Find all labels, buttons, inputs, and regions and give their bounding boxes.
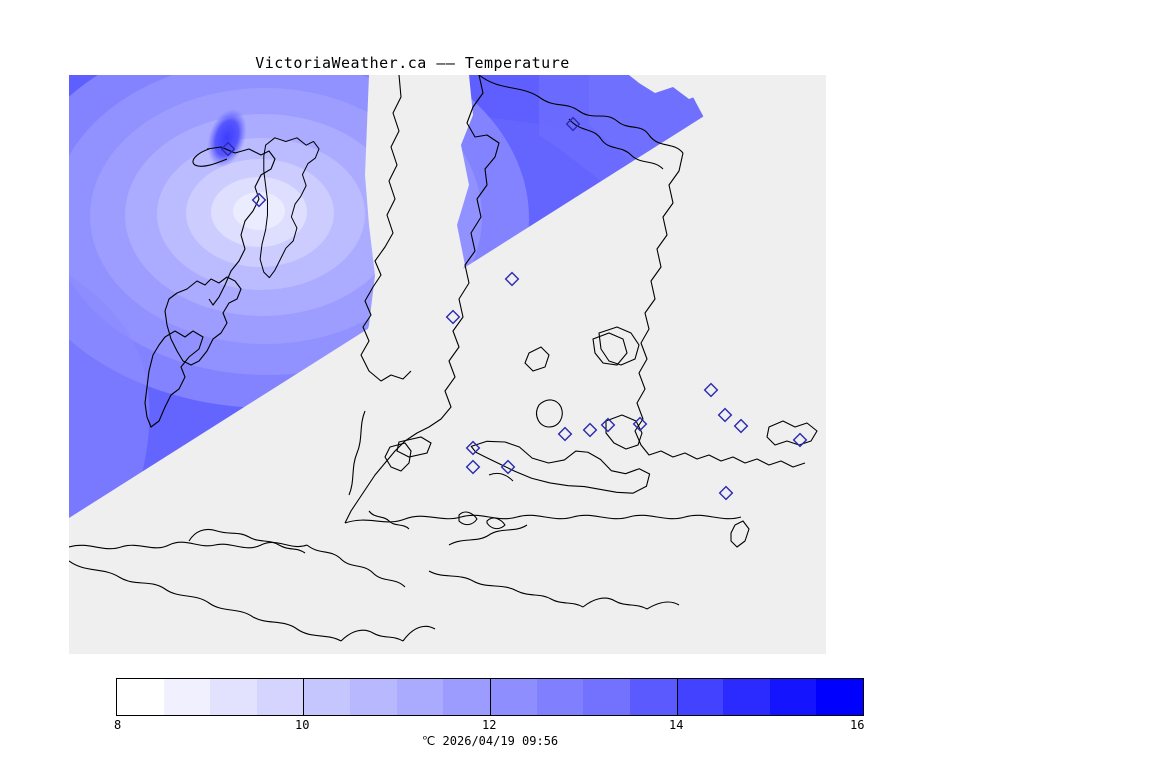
colorbar-tick-label: 10	[295, 718, 309, 732]
colorbar-tick-labels: 810121416	[116, 718, 864, 734]
colorbar-swatch	[210, 679, 257, 715]
colorbar-tick-label: 12	[482, 718, 496, 732]
colorbar-swatch	[770, 679, 817, 715]
colorbar-swatch	[257, 679, 304, 715]
colorbar-swatch	[397, 679, 444, 715]
colorbar-swatch	[723, 679, 770, 715]
colorbar-area: 810121416 ℃ 2026/04/19 09:56	[0, 668, 1152, 748]
colorbar-tick-label: 8	[114, 718, 121, 732]
colorbar-swatch	[443, 679, 490, 715]
colorbar-caption: ℃ 2026/04/19 09:56	[116, 734, 864, 748]
colorbar-swatch	[583, 679, 630, 715]
colorbar-swatch	[816, 679, 863, 715]
colorbar-swatch	[677, 679, 724, 715]
colorbar-tick-label: 14	[669, 718, 683, 732]
colorbar-swatch	[350, 679, 397, 715]
temperature-field-svg	[69, 75, 826, 654]
page-title: VictoriaWeather.ca —— Temperature	[0, 54, 825, 72]
colorbar-swatch	[117, 679, 164, 715]
colorbar-gradient[interactable]	[116, 678, 864, 716]
colorbar-swatch	[304, 679, 351, 715]
temperature-map-panel[interactable]	[69, 75, 826, 654]
colorbar-swatch	[537, 679, 584, 715]
colorbar-swatch	[164, 679, 211, 715]
colorbar-swatch	[630, 679, 677, 715]
colorbar-swatch	[490, 679, 537, 715]
colorbar-tick-label: 16	[850, 718, 864, 732]
